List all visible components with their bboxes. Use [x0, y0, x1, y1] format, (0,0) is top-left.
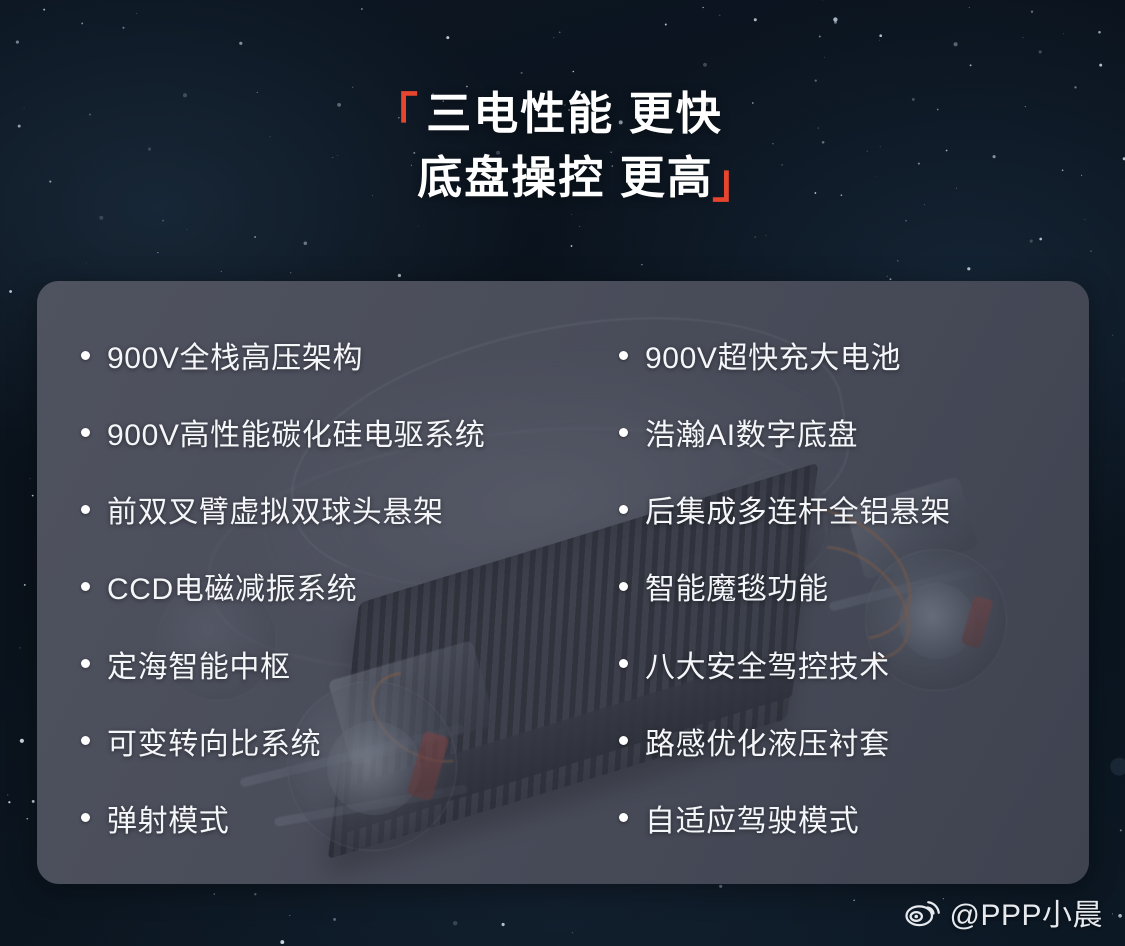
- list-item: 智能魔毯功能: [619, 564, 1049, 608]
- bullet-icon: [81, 505, 90, 514]
- list-item: CCD电磁减振系统: [81, 564, 565, 608]
- list-item: 后集成多连杆全铝悬架: [619, 487, 1049, 531]
- list-item: 路感优化液压衬套: [619, 719, 1049, 763]
- weibo-icon: [905, 897, 941, 927]
- bullet-icon: [81, 813, 90, 822]
- feature-label: 900V全栈高压架构: [107, 333, 363, 377]
- bullet-icon: [619, 428, 628, 437]
- title-line-1: 三电性能 更快: [0, 82, 1125, 146]
- list-item: 可变转向比系统: [81, 719, 565, 763]
- list-item: 前双叉臂虚拟双球头悬架: [81, 487, 565, 531]
- feature-label: 智能魔毯功能: [645, 564, 829, 608]
- list-item: 900V超快充大电池: [619, 333, 1049, 377]
- list-item: 900V高性能碳化硅电驱系统: [81, 410, 565, 454]
- feature-column-left: 900V全栈高压架构 900V高性能碳化硅电驱系统 前双叉臂虚拟双球头悬架 CC…: [81, 333, 565, 840]
- bullet-icon: [619, 351, 628, 360]
- bullet-icon: [81, 659, 90, 668]
- bullet-icon: [81, 582, 90, 591]
- feature-label: 定海智能中枢: [107, 642, 291, 686]
- bullet-icon: [619, 582, 628, 591]
- list-item: 八大安全驾控技术: [619, 642, 1049, 686]
- bullet-icon: [81, 351, 90, 360]
- feature-label: 浩瀚AI数字底盘: [645, 410, 858, 454]
- feature-label: 自适应驾驶模式: [645, 796, 859, 840]
- feature-columns: 900V全栈高压架构 900V高性能碳化硅电驱系统 前双叉臂虚拟双球头悬架 CC…: [37, 281, 1089, 884]
- list-item: 900V全栈高压架构: [81, 333, 565, 377]
- watermark: @PPP小晨: [905, 890, 1103, 934]
- bullet-icon: [81, 428, 90, 437]
- bullet-icon: [619, 813, 628, 822]
- bullet-icon: [619, 659, 628, 668]
- feature-label: 前双叉臂虚拟双球头悬架: [107, 487, 444, 531]
- title-line-2: 底盘操控 更高: [0, 146, 1125, 210]
- poster-canvas: 「 」 三电性能 更快 底盘操控 更高: [0, 0, 1125, 946]
- bullet-icon: [619, 736, 628, 745]
- feature-card: 900V全栈高压架构 900V高性能碳化硅电驱系统 前双叉臂虚拟双球头悬架 CC…: [37, 281, 1089, 884]
- list-item: 自适应驾驶模式: [619, 796, 1049, 840]
- feature-label: CCD电磁减振系统: [107, 564, 357, 608]
- feature-label: 八大安全驾控技术: [645, 642, 890, 686]
- list-item: 浩瀚AI数字底盘: [619, 410, 1049, 454]
- feature-label: 弹射模式: [107, 796, 229, 840]
- list-item: 弹射模式: [81, 796, 565, 840]
- list-item: 定海智能中枢: [81, 642, 565, 686]
- feature-column-right: 900V超快充大电池 浩瀚AI数字底盘 后集成多连杆全铝悬架 智能魔毯功能 八大…: [565, 333, 1049, 840]
- watermark-handle: @PPP小晨: [950, 890, 1103, 934]
- feature-label: 可变转向比系统: [107, 719, 321, 763]
- feature-label: 路感优化液压衬套: [645, 719, 890, 763]
- feature-label: 900V超快充大电池: [645, 333, 901, 377]
- bullet-icon: [619, 505, 628, 514]
- feature-label: 后集成多连杆全铝悬架: [645, 487, 951, 531]
- page-title: 三电性能 更快 底盘操控 更高: [0, 82, 1125, 210]
- feature-label: 900V高性能碳化硅电驱系统: [107, 410, 485, 454]
- bullet-icon: [81, 736, 90, 745]
